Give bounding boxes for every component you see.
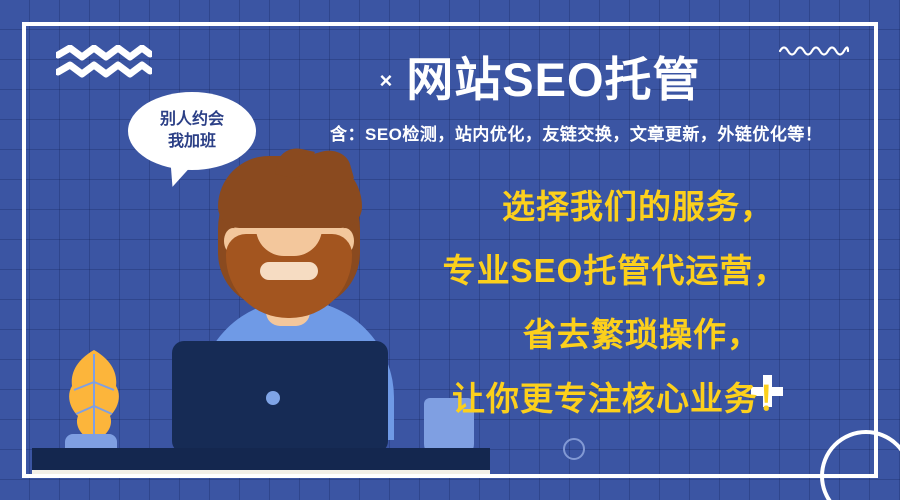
small-circle-outline-icon: [563, 438, 585, 460]
desk-edge: [32, 470, 490, 474]
title-bullet-icon: ×: [379, 70, 392, 92]
circle-outline-icon: [820, 430, 900, 500]
slogan-line-1: 选择我们的服务，: [446, 190, 830, 223]
slogan-line-2: 专业SEO托管代运营，: [400, 254, 830, 287]
seo-hosting-banner: × 网站SEO托管 含：SEO检测，站内优化，友链交换，文章更新，外链优化等！ …: [0, 0, 900, 500]
person-mouth: [260, 262, 318, 280]
speech-bubble-line-1: 别人约会: [160, 109, 224, 131]
title-text: 网站SEO托管: [406, 56, 700, 103]
laptop-logo-icon: [266, 391, 280, 405]
slogan-line-3: 省去繁琐操作，: [454, 318, 830, 351]
zigzag-waves-icon: [56, 45, 152, 84]
slogan-block: 选择我们的服务， 专业SEO托管代运营， 省去繁琐操作， 让你更专注核心业务！: [400, 190, 830, 415]
laptop-screen: [172, 341, 388, 453]
page-title: × 网站SEO托管: [330, 48, 750, 110]
slogan-line-4: 让你更专注核心业务！: [414, 382, 830, 415]
sine-wave-icon: [778, 42, 850, 63]
subtitle-text: 含：SEO检测，站内优化，友链交换，文章更新，外链优化等！: [330, 120, 890, 145]
